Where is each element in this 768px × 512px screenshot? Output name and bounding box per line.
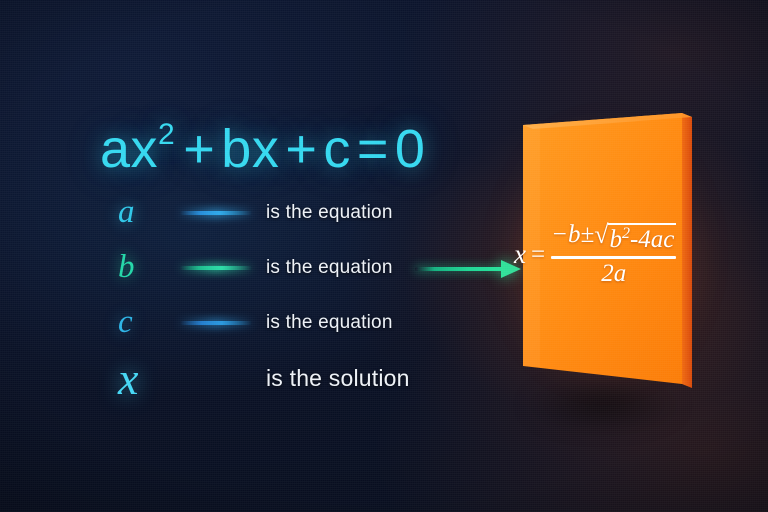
vignette-overlay xyxy=(0,0,768,512)
quadratic-formula-illustration: ax2 + bx + c = 0 a is the equation b is … xyxy=(0,0,768,512)
